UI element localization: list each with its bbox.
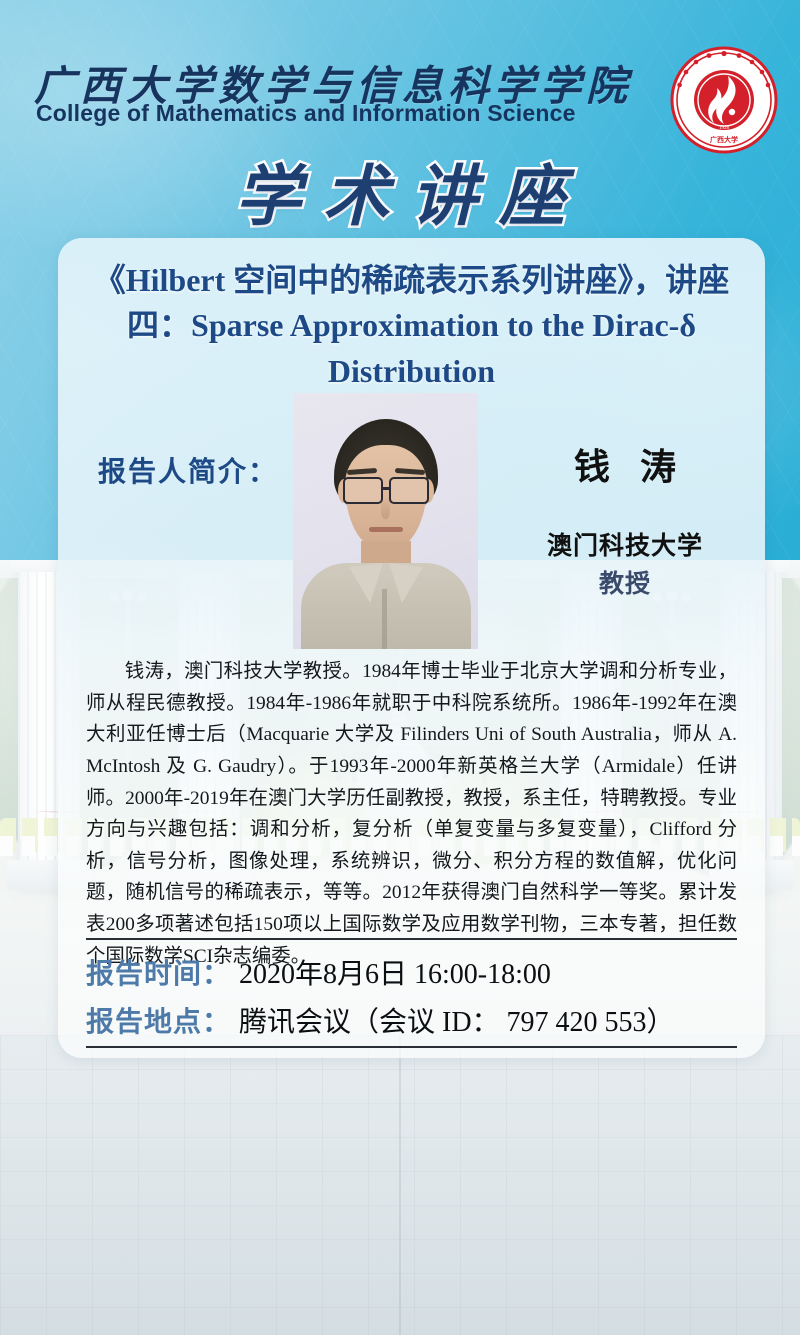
- speaker-portrait-photo: [293, 393, 478, 649]
- place-label: 报告地点：: [86, 1000, 231, 1040]
- lecture-title: 《Hilbert 空间中的稀疏表示系列讲座》，讲座四：Sparse Approx…: [78, 258, 745, 394]
- info-divider-top: [86, 938, 737, 940]
- speaker-affiliation: 澳门科技大学: [510, 526, 740, 562]
- speaker-section-label: 报告人简介：: [98, 450, 278, 490]
- info-divider-bottom: [86, 1046, 737, 1048]
- portrait-nose: [381, 497, 390, 519]
- content-card: 《Hilbert 空间中的稀疏表示系列讲座》，讲座四：Sparse Approx…: [58, 238, 765, 1058]
- school-name-en: College of Mathematics and Information S…: [36, 100, 576, 127]
- portrait-shirt-placket: [382, 589, 387, 649]
- speaker-name: 钱 涛: [510, 438, 740, 490]
- banner-academic-lecture: 学术讲座: [0, 143, 800, 239]
- svg-text:1928: 1928: [719, 126, 730, 131]
- speaker-rank: 教授: [510, 564, 740, 600]
- speaker-biography: 钱涛，澳门科技大学教授。1984年博士毕业于北京大学调和分析专业，师从程民德教授…: [86, 656, 737, 972]
- lecture-poster: 广西大学数学与信息科学学院 College of Mathematics and…: [0, 0, 800, 1335]
- university-seal-icon: 广西大学 1928: [670, 46, 778, 154]
- info-row-place: 报告地点： 腾讯会议（会议 ID： 797 420 553）: [86, 1000, 737, 1040]
- time-label: 报告时间：: [86, 952, 231, 992]
- portrait-mouth: [369, 527, 403, 532]
- info-row-time: 报告时间： 2020年8月6日 16:00-18:00: [86, 952, 737, 992]
- time-value: 2020年8月6日 16:00-18:00: [239, 952, 551, 992]
- place-value: 腾讯会议（会议 ID： 797 420 553）: [239, 1000, 675, 1040]
